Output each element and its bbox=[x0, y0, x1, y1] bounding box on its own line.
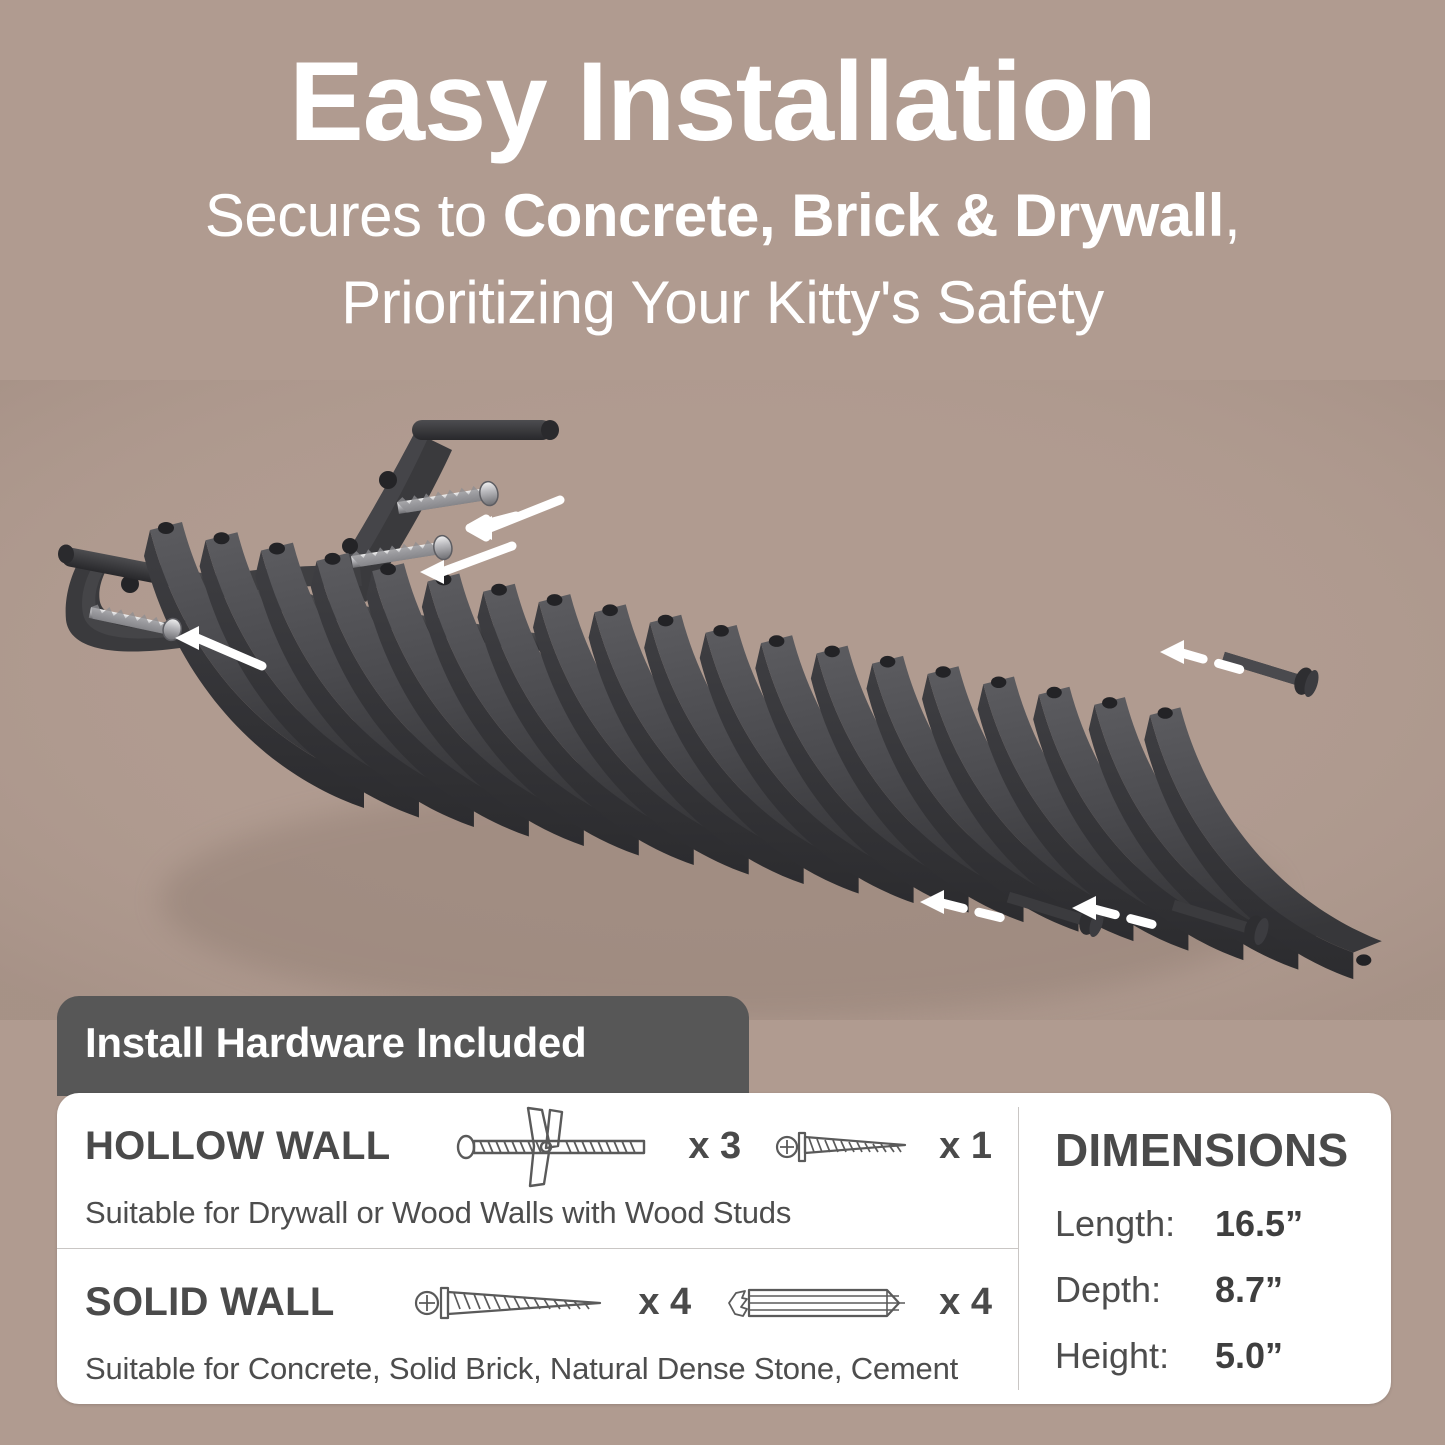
wall-anchor-icon bbox=[725, 1279, 925, 1327]
dimension-length-key: Length: bbox=[1055, 1203, 1215, 1245]
dimensions-column: DIMENSIONS Length: 16.5” Depth: 8.7” Hei… bbox=[1019, 1093, 1391, 1404]
page-title: Easy Installation bbox=[0, 46, 1445, 158]
solid-wall-item-1-qty: x 4 bbox=[638, 1281, 691, 1324]
info-panel: Install Hardware Included HOLLOW WALL bbox=[57, 996, 1391, 1404]
headline-block: Easy Installation Secures to Concrete, B… bbox=[0, 46, 1445, 346]
hardware-row-hollow-wall: HOLLOW WALL bbox=[57, 1093, 1018, 1249]
hollow-wall-item-2-qty: x 1 bbox=[939, 1125, 992, 1168]
product-scene bbox=[0, 380, 1445, 1020]
solid-wall-description: Suitable for Concrete, Solid Brick, Natu… bbox=[85, 1351, 992, 1387]
hardware-row-solid-wall: SOLID WALL bbox=[57, 1249, 1018, 1404]
toggle-bolt-icon bbox=[454, 1104, 674, 1190]
dimension-row-height: Height: 5.0” bbox=[1055, 1335, 1391, 1377]
hollow-wall-item-1: x 3 bbox=[454, 1104, 741, 1190]
dimension-length-value: 16.5” bbox=[1215, 1203, 1303, 1245]
solid-wall-item-2: x 4 bbox=[725, 1279, 992, 1327]
install-hardware-tab: Install Hardware Included bbox=[57, 996, 749, 1096]
wood-screw-icon bbox=[414, 1279, 624, 1327]
subtitle-line-1-prefix: Secures to bbox=[205, 182, 503, 249]
dimension-height-value: 5.0” bbox=[1215, 1335, 1283, 1377]
dimension-depth-value: 8.7” bbox=[1215, 1269, 1283, 1311]
solid-wall-item-1: x 4 bbox=[414, 1279, 691, 1327]
install-hardware-tab-label: Install Hardware Included bbox=[85, 1019, 586, 1067]
hollow-wall-item-2: x 1 bbox=[775, 1123, 992, 1171]
hollow-wall-label: HOLLOW WALL bbox=[85, 1124, 390, 1169]
subtitle-line-2: Prioritizing Your Kitty's Safety bbox=[0, 259, 1445, 346]
dimension-row-depth: Depth: 8.7” bbox=[1055, 1269, 1391, 1311]
wood-screw-icon bbox=[775, 1123, 925, 1171]
hardware-dimensions-card: HOLLOW WALL bbox=[57, 1093, 1391, 1404]
hardware-column: HOLLOW WALL bbox=[57, 1093, 1018, 1404]
hollow-wall-item-1-qty: x 3 bbox=[688, 1125, 741, 1168]
dimension-depth-key: Depth: bbox=[1055, 1269, 1215, 1311]
infographic-canvas: Easy Installation Secures to Concrete, B… bbox=[0, 0, 1445, 1445]
dimension-height-key: Height: bbox=[1055, 1335, 1215, 1377]
solid-wall-item-2-qty: x 4 bbox=[939, 1281, 992, 1324]
hollow-wall-description: Suitable for Drywall or Wood Walls with … bbox=[85, 1195, 992, 1231]
subtitle-line-1: Secures to Concrete, Brick & Drywall, bbox=[0, 172, 1445, 259]
solid-wall-label: SOLID WALL bbox=[85, 1280, 335, 1325]
subtitle-line-1-strong: Concrete, Brick & Drywall bbox=[503, 182, 1224, 249]
dimensions-title: DIMENSIONS bbox=[1055, 1123, 1391, 1177]
dimension-row-length: Length: 16.5” bbox=[1055, 1203, 1391, 1245]
product-illustration bbox=[0, 380, 1445, 1020]
subtitle-line-1-suffix: , bbox=[1224, 182, 1240, 249]
